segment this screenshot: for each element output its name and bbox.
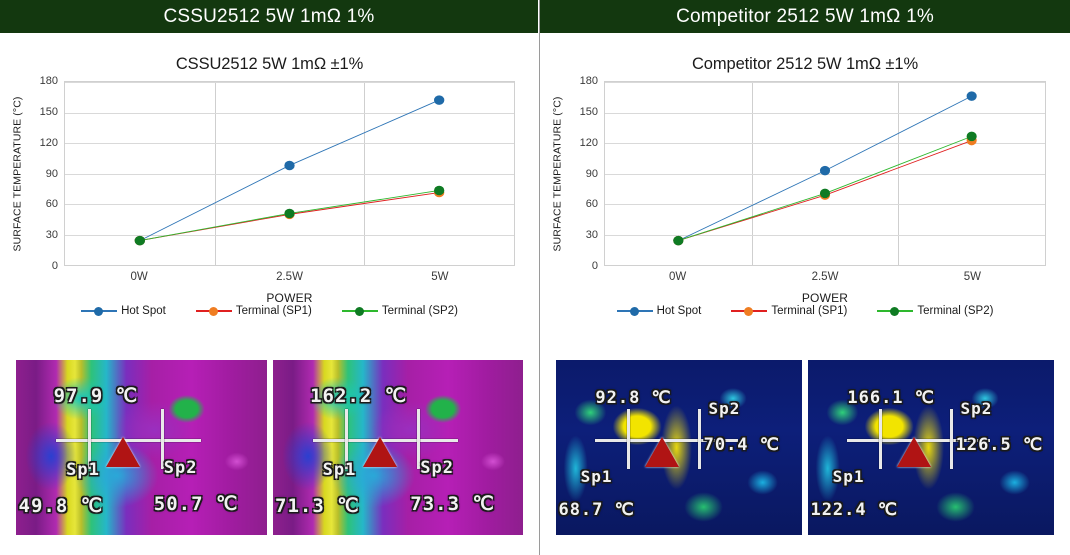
legend-marker-icon: [81, 305, 117, 317]
thermal-sp1-value: 122.4 ℃: [810, 500, 898, 520]
left-plot-area: [64, 81, 515, 266]
data-point-marker: [967, 132, 977, 142]
left-panel: CSSU2512 5W 1mΩ ±1% SURFACE TEMPERATURE …: [0, 33, 539, 555]
thermal-image: 162.2 ℃Sp273.3 ℃Sp171.3 ℃: [273, 360, 524, 535]
legend-label: Terminal (SP1): [771, 305, 847, 317]
thermal-image: 97.9 ℃Sp250.7 ℃Sp149.8 ℃: [16, 360, 267, 535]
right-panel-header: Competitor 2512 5W 1mΩ 1%: [540, 0, 1070, 33]
thermal-hotspot-value: 92.8 ℃: [595, 388, 671, 408]
legend-marker-icon: [731, 305, 767, 317]
thermal-sp1-value: 49.8 ℃: [19, 495, 104, 517]
data-point-marker: [967, 91, 977, 101]
left-y-axis-label: SURFACE TEMPERATURE (°C): [6, 81, 28, 266]
x-tick-label: 5W: [431, 271, 448, 283]
y-tick-label: 150: [40, 106, 58, 118]
thermal-sp1-value: 68.7 ℃: [558, 500, 634, 520]
series-line: [140, 100, 439, 241]
thermal-sp2-label: Sp2: [164, 458, 198, 478]
x-tick-label: 0W: [131, 271, 148, 283]
y-tick-label: 60: [586, 198, 598, 210]
thermal-image: 166.1 ℃Sp2126.5 ℃Sp1122.4 ℃: [808, 360, 1054, 535]
left-chart-legend: Hot SpotTerminal (SP1)Terminal (SP2): [0, 305, 539, 317]
legend-item[interactable]: Hot Spot: [617, 305, 702, 317]
left-chart: CSSU2512 5W 1mΩ ±1% SURFACE TEMPERATURE …: [0, 33, 539, 343]
right-plot-area: [604, 81, 1046, 266]
right-chart: Competitor 2512 5W 1mΩ ±1% SURFACE TEMPE…: [540, 33, 1070, 343]
y-tick-label: 120: [40, 137, 58, 149]
hotspot-marker-icon: [897, 437, 931, 467]
thermal-sp1-label: Sp1: [833, 467, 865, 486]
data-point-marker: [284, 161, 294, 171]
thermal-sp1-label: Sp1: [66, 460, 100, 480]
comparison-page: CSSU2512 5W 1mΩ 1% Competitor 2512 5W 1m…: [0, 0, 1070, 555]
thermal-sp1-label: Sp1: [323, 460, 357, 480]
right-x-ticks: 0W2.5W5W: [604, 271, 1046, 287]
series-line: [678, 136, 971, 240]
y-tick-label: 150: [580, 106, 598, 118]
hotspot-marker-icon: [363, 437, 397, 467]
right-panel: Competitor 2512 5W 1mΩ ±1% SURFACE TEMPE…: [540, 33, 1070, 555]
y-tick-label: 90: [586, 168, 598, 180]
thermal-sp2-value: 73.3 ℃: [410, 493, 495, 515]
data-point-marker: [284, 209, 294, 219]
thermal-sp2-value: 126.5 ℃: [956, 435, 1044, 455]
left-plot-svg: [65, 82, 514, 265]
y-tick-label: 0: [592, 260, 598, 272]
legend-item[interactable]: Terminal (SP1): [731, 305, 847, 317]
x-tick-label: 2.5W: [812, 271, 839, 283]
left-y-ticks: 0306090120150180: [26, 81, 62, 266]
thermal-sp2-label: Sp2: [420, 458, 454, 478]
right-chart-legend: Hot SpotTerminal (SP1)Terminal (SP2): [540, 305, 1070, 317]
left-thermal-row: 97.9 ℃Sp250.7 ℃Sp149.8 ℃162.2 ℃Sp273.3 ℃…: [0, 360, 539, 540]
y-tick-label: 60: [46, 198, 58, 210]
thermal-hotspot-value: 166.1 ℃: [847, 388, 935, 408]
y-tick-label: 30: [586, 229, 598, 241]
thermal-sp1-value: 71.3 ℃: [275, 495, 360, 517]
hotspot-marker-icon: [106, 437, 140, 467]
right-y-ticks: 0306090120150180: [566, 81, 602, 266]
legend-marker-icon: [617, 305, 653, 317]
right-plot-svg: [605, 82, 1045, 265]
thermal-sp2-label: Sp2: [961, 399, 993, 418]
legend-label: Hot Spot: [657, 305, 702, 317]
right-chart-area: SURFACE TEMPERATURE (°C) 030609012015018…: [540, 81, 1070, 281]
x-tick-label: 0W: [669, 271, 686, 283]
data-point-marker: [434, 95, 444, 105]
legend-marker-icon: [877, 305, 913, 317]
data-point-marker: [434, 186, 444, 196]
thermal-image: 92.8 ℃Sp270.4 ℃Sp168.7 ℃: [556, 360, 802, 535]
legend-item[interactable]: Terminal (SP1): [196, 305, 312, 317]
x-tick-label: 2.5W: [276, 271, 303, 283]
legend-marker-icon: [342, 305, 378, 317]
legend-item[interactable]: Hot Spot: [81, 305, 166, 317]
right-header-title: Competitor 2512 5W 1mΩ 1%: [676, 6, 934, 28]
thermal-hotspot-value: 162.2 ℃: [310, 385, 407, 407]
left-panel-header: CSSU2512 5W 1mΩ 1%: [0, 0, 538, 33]
legend-label: Terminal (SP2): [917, 305, 993, 317]
thermal-sp1-label: Sp1: [581, 467, 613, 486]
y-tick-label: 90: [46, 168, 58, 180]
thermal-sp2-value: 50.7 ℃: [154, 493, 239, 515]
hotspot-marker-icon: [645, 437, 679, 467]
data-point-marker: [820, 189, 830, 199]
left-chart-area: SURFACE TEMPERATURE (°C) 030609012015018…: [0, 81, 539, 281]
left-header-title: CSSU2512 5W 1mΩ 1%: [163, 6, 374, 28]
right-chart-title: Competitor 2512 5W 1mΩ ±1%: [540, 33, 1070, 74]
data-point-marker: [820, 166, 830, 176]
y-tick-label: 180: [40, 75, 58, 87]
legend-label: Terminal (SP2): [382, 305, 458, 317]
data-point-marker: [135, 236, 145, 246]
y-tick-label: 0: [52, 260, 58, 272]
legend-label: Terminal (SP1): [236, 305, 312, 317]
y-tick-label: 180: [580, 75, 598, 87]
legend-marker-icon: [196, 305, 232, 317]
legend-label: Hot Spot: [121, 305, 166, 317]
right-y-axis-label: SURFACE TEMPERATURE (°C): [546, 81, 568, 266]
thermal-hotspot-value: 97.9 ℃: [54, 385, 139, 407]
x-tick-label: 5W: [964, 271, 981, 283]
legend-item[interactable]: Terminal (SP2): [877, 305, 993, 317]
thermal-sp2-value: 70.4 ℃: [704, 435, 780, 455]
y-tick-label: 30: [46, 229, 58, 241]
data-point-marker: [673, 236, 683, 246]
y-tick-label: 120: [580, 137, 598, 149]
right-x-axis-label: POWER: [604, 291, 1046, 305]
left-chart-title: CSSU2512 5W 1mΩ ±1%: [0, 33, 539, 74]
thermal-sp2-label: Sp2: [709, 399, 741, 418]
legend-item[interactable]: Terminal (SP2): [342, 305, 458, 317]
right-thermal-row: 92.8 ℃Sp270.4 ℃Sp168.7 ℃166.1 ℃Sp2126.5 …: [540, 360, 1070, 540]
left-x-ticks: 0W2.5W5W: [64, 271, 515, 287]
left-x-axis-label: POWER: [64, 291, 515, 305]
